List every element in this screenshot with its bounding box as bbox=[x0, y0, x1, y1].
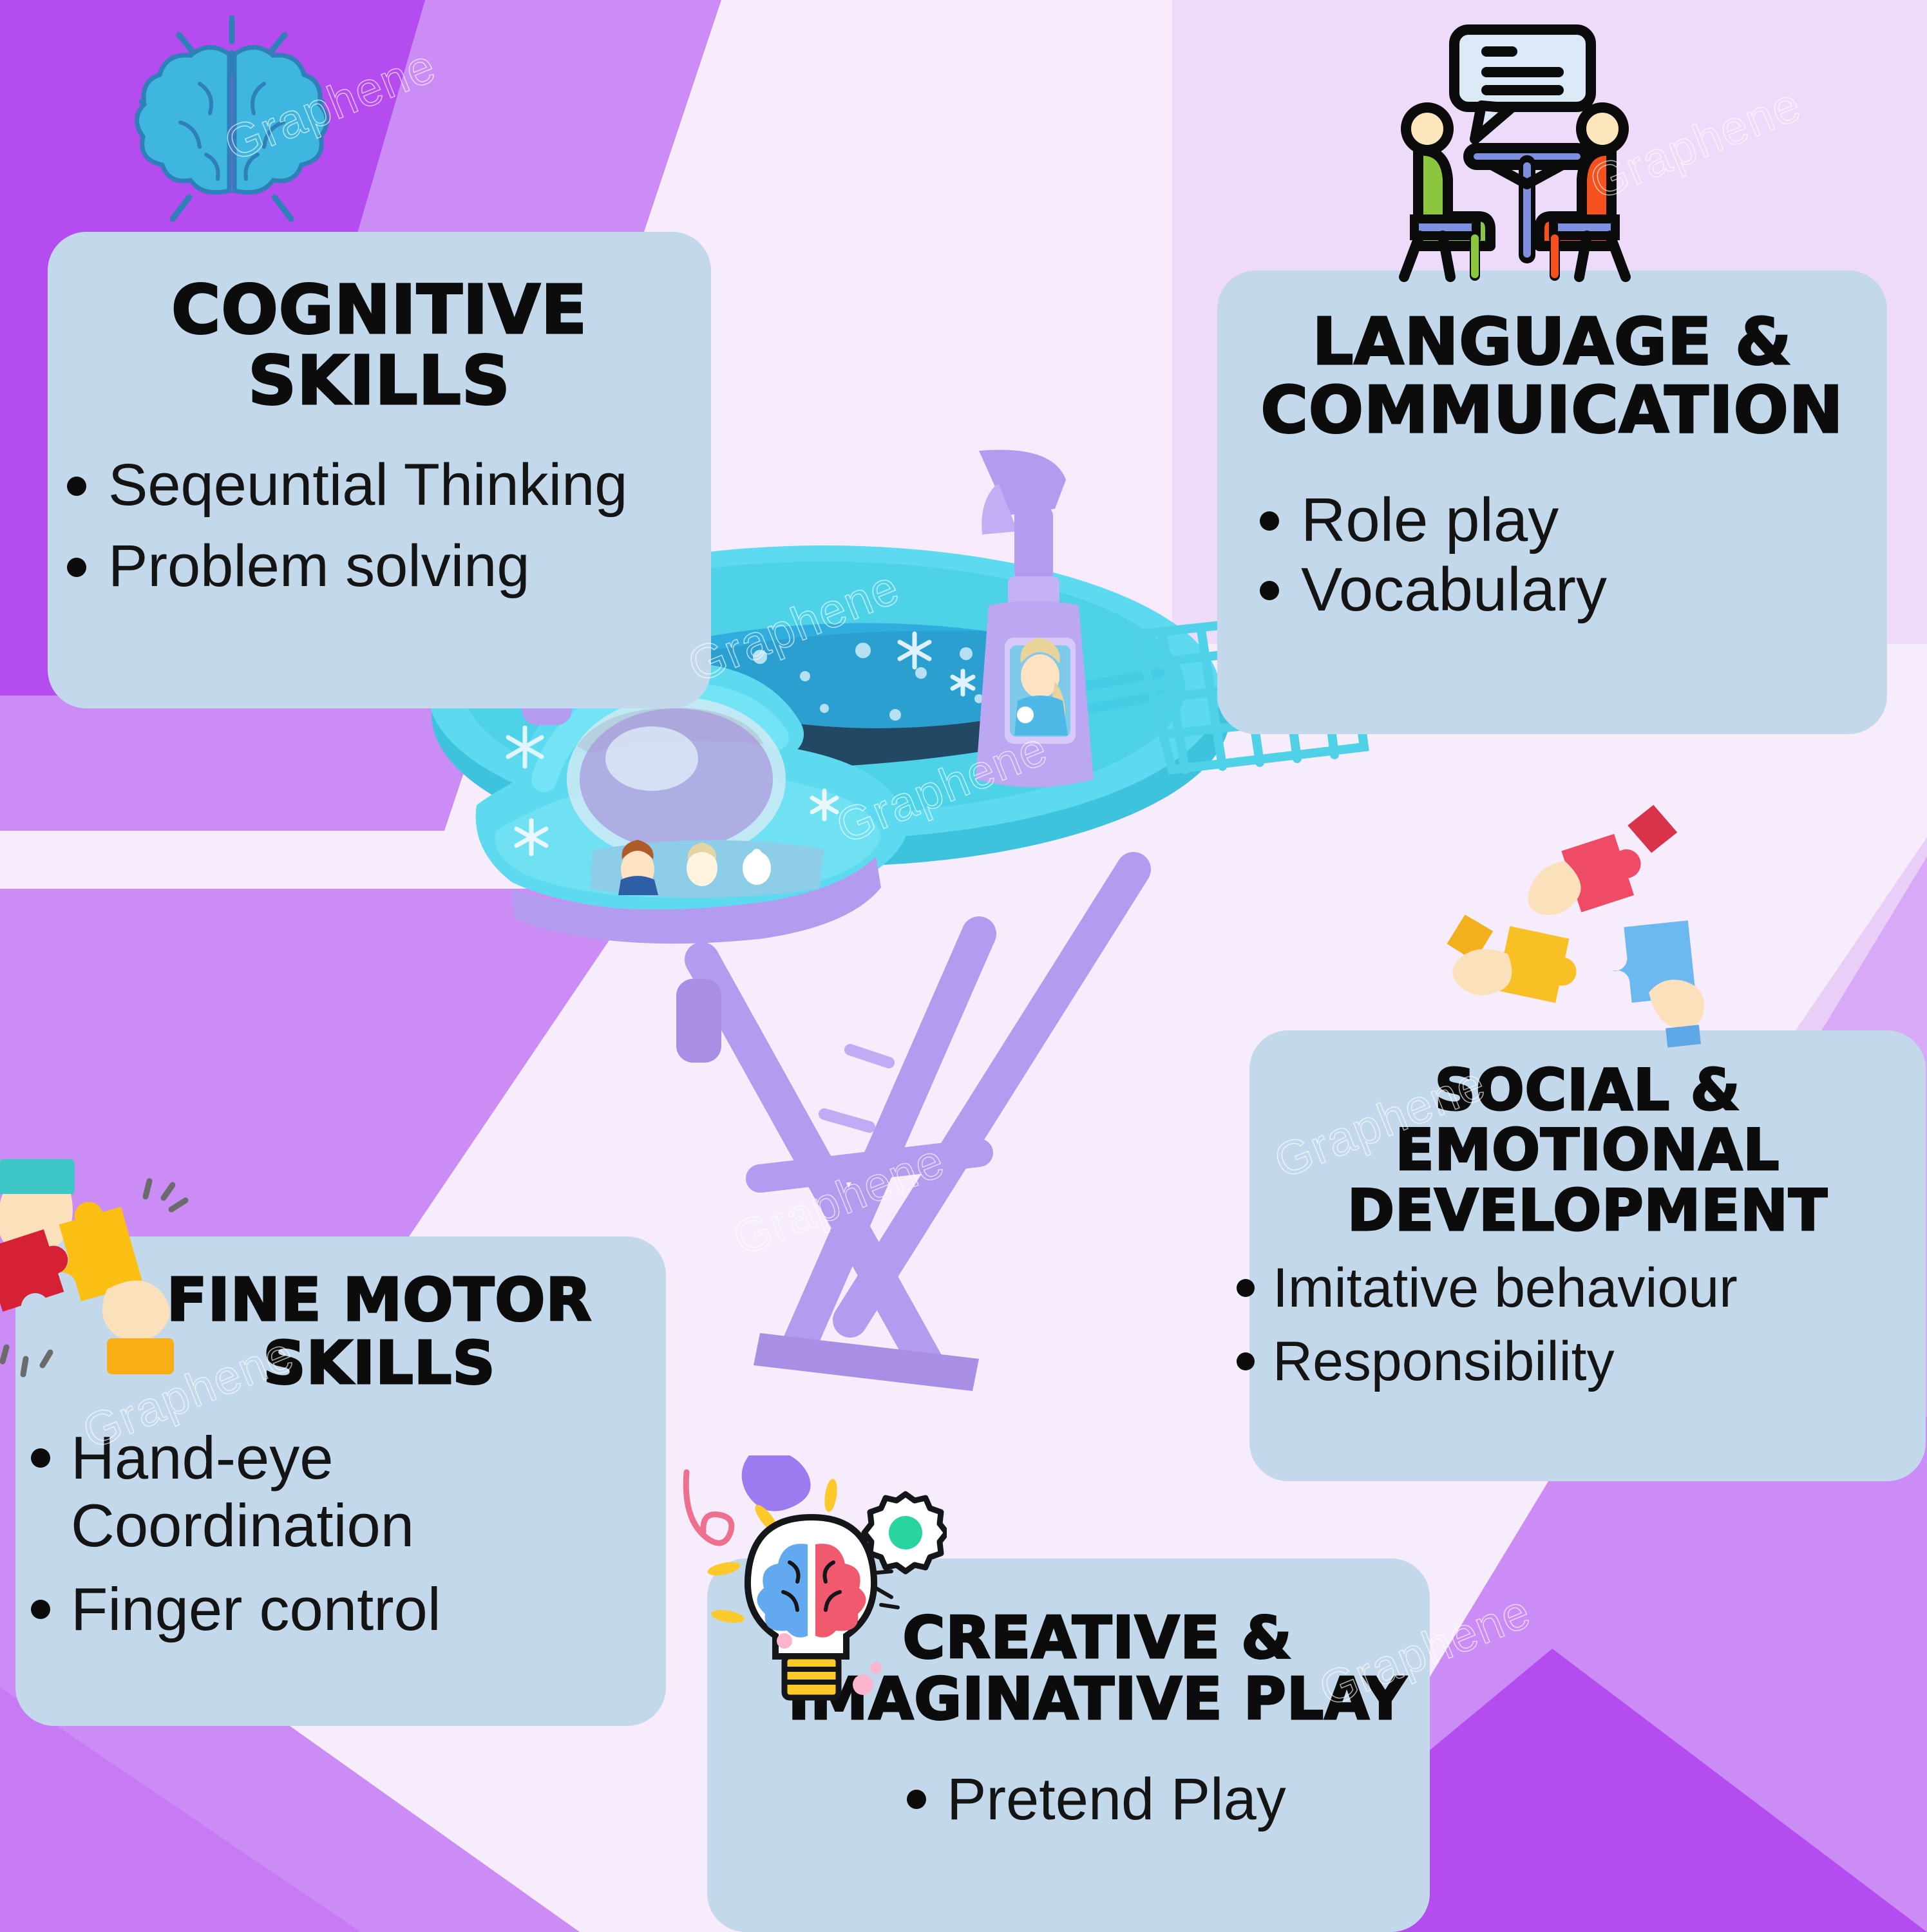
bullet-dot bbox=[907, 1790, 926, 1809]
card-title-line1: SOCIAL & bbox=[1249, 1060, 1926, 1120]
list-item: Imitative behaviour bbox=[1237, 1257, 1926, 1319]
bullet-dot bbox=[1260, 511, 1279, 531]
bullet-text: Responsibility bbox=[1273, 1331, 1615, 1392]
list-item: Hand-eye Coordination bbox=[31, 1424, 666, 1560]
card-title-cognitive: COGNITIVE SKILLS bbox=[48, 274, 711, 416]
list-item: Role play bbox=[1260, 486, 1887, 555]
card-cognitive-skills[interactable]: COGNITIVE SKILLS Seqeuntial Thinking Pro… bbox=[48, 232, 711, 708]
list-item: Seqeuntial Thinking bbox=[67, 452, 711, 518]
card-title-social: SOCIAL & EMOTIONAL DEVELOPMENT bbox=[1249, 1060, 1926, 1240]
bullet-dot bbox=[1237, 1352, 1255, 1370]
card-title-line2: EMOTIONAL bbox=[1249, 1120, 1926, 1180]
bullet-list-language: Role play Vocabulary bbox=[1260, 486, 1887, 624]
bullet-text-line1: Hand-eye bbox=[71, 1424, 334, 1492]
conversation-icon bbox=[1378, 12, 1649, 289]
card-title-line1: LANGUAGE & bbox=[1217, 308, 1887, 376]
card-language-communication[interactable]: LANGUAGE & COMMUICATION Role play Vocabu… bbox=[1217, 270, 1887, 734]
bullet-text: Role play bbox=[1301, 486, 1559, 555]
bullet-text: Problem solving bbox=[108, 533, 530, 600]
brain-icon bbox=[103, 6, 361, 251]
card-title-line2: COMMUICATION bbox=[1217, 376, 1887, 444]
card-title-language: LANGUAGE & COMMUICATION bbox=[1217, 308, 1887, 444]
lightbulb-brain-icon bbox=[676, 1455, 947, 1732]
bullet-text: Seqeuntial Thinking bbox=[108, 452, 627, 518]
list-item: Responsibility bbox=[1237, 1331, 1926, 1392]
bullet-list-cognitive: Seqeuntial Thinking Problem solving bbox=[67, 452, 711, 599]
bullet-dot bbox=[1237, 1279, 1255, 1297]
bullet-text-line2: Coordination bbox=[71, 1492, 414, 1559]
bullet-text: Imitative behaviour bbox=[1273, 1257, 1738, 1319]
bullet-list-social: Imitative behaviour Responsibility bbox=[1237, 1257, 1926, 1393]
bullet-list-fine-motor: Hand-eye Coordination Finger control bbox=[31, 1424, 666, 1643]
bullet-list-creative: Pretend Play bbox=[907, 1766, 1430, 1833]
bullet-dot bbox=[67, 477, 86, 496]
bullet-dot bbox=[31, 1600, 50, 1619]
bullet-text: Pretend Play bbox=[947, 1766, 1286, 1833]
card-title-line3: DEVELOPMENT bbox=[1249, 1180, 1926, 1240]
puzzle-hands-icon bbox=[0, 1153, 232, 1404]
bullet-text: Finger control bbox=[71, 1575, 441, 1643]
list-item: Pretend Play bbox=[907, 1766, 1430, 1833]
bullet-dot-hidden bbox=[1260, 581, 1279, 600]
puzzle-pieces-icon bbox=[1443, 786, 1720, 1063]
bullet-text: Vocabulary bbox=[1301, 555, 1607, 625]
bullet-dot bbox=[31, 1448, 50, 1468]
list-item: Vocabulary bbox=[1260, 555, 1887, 625]
bullet-text: Hand-eye Coordination bbox=[71, 1424, 414, 1560]
list-item: Problem solving bbox=[67, 533, 711, 600]
card-social-emotional-development[interactable]: SOCIAL & EMOTIONAL DEVELOPMENT Imitative… bbox=[1249, 1030, 1926, 1481]
list-item: Finger control bbox=[31, 1575, 666, 1643]
bullet-dot bbox=[67, 558, 86, 577]
